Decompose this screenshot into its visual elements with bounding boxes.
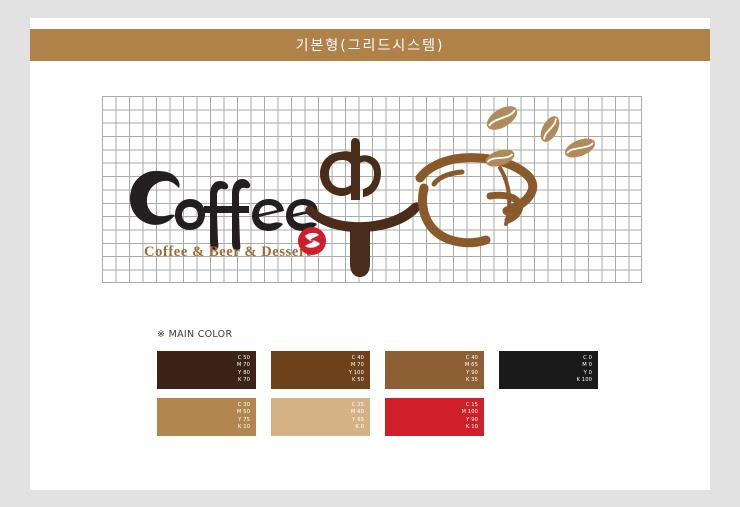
- cmyk-k: K 0: [351, 424, 364, 431]
- swatch-cmyk-values: C 50 M 70 Y 80 K 70: [237, 355, 250, 385]
- main-color-heading: ※ MAIN COLOR: [157, 329, 232, 340]
- cmyk-c: C 25: [351, 402, 364, 409]
- swatch-cmyk-values: C 15 M 100 Y 90 K 10: [461, 402, 478, 432]
- cmyk-m: M 0: [577, 362, 592, 369]
- cmyk-m: M 70: [237, 362, 250, 369]
- cmyk-m: M 100: [461, 409, 478, 416]
- cmyk-c: C 30: [237, 402, 250, 409]
- logo-artwork: Coffee & Beer & Dessert: [102, 96, 642, 283]
- swatch-black: C 0 M 0 Y 0 K 100: [499, 351, 598, 389]
- logo-grid-panel: Coffee & Beer & Dessert: [102, 96, 642, 283]
- swatch-tan: C 30 M 50 Y 75 K 10: [157, 398, 256, 436]
- page-sheet: 기본형(그리드시스템): [30, 18, 710, 490]
- cmyk-y: Y 65: [351, 417, 364, 424]
- main-color-swatch-grid: C 50 M 70 Y 80 K 70 C 40 M 70 Y 100 K 50…: [157, 351, 598, 436]
- cmyk-k: K 50: [349, 377, 364, 384]
- swatch-cmyk-values: C 0 M 0 Y 0 K 100: [577, 355, 592, 385]
- swatch-cmyk-values: C 40 M 70 Y 100 K 50: [349, 355, 364, 385]
- logo-emblem: [298, 227, 326, 255]
- cmyk-m: M 65: [465, 362, 478, 369]
- cmyk-c: C 40: [349, 355, 364, 362]
- cmyk-k: K 10: [237, 424, 250, 431]
- cmyk-y: Y 90: [461, 417, 478, 424]
- header-bar: 기본형(그리드시스템): [30, 29, 710, 61]
- logo-coffee-beans: [483, 101, 598, 169]
- cmyk-y: Y 90: [465, 370, 478, 377]
- logo-tagline: Coffee & Beer & Dessert: [144, 244, 311, 260]
- cmyk-m: M 40: [351, 409, 364, 416]
- cmyk-k: K 100: [577, 377, 592, 384]
- cmyk-m: M 50: [237, 409, 250, 416]
- cmyk-y: Y 80: [237, 370, 250, 377]
- swatch-dark-brown: C 50 M 70 Y 80 K 70: [157, 351, 256, 389]
- swatch-cmyk-values: C 40 M 65 Y 90 K 35: [465, 355, 478, 385]
- logo-coffee-cup: [420, 158, 533, 243]
- swatch-red: C 15 M 100 Y 90 K 10: [385, 398, 484, 436]
- cmyk-y: Y 75: [237, 417, 250, 424]
- cmyk-m: M 70: [349, 362, 364, 369]
- cmyk-c: C 40: [465, 355, 478, 362]
- swatch-beige: C 25 M 40 Y 65 K 0: [271, 398, 370, 436]
- swatch-medium-brown: C 40 M 70 Y 100 K 50: [271, 351, 370, 389]
- cmyk-c: C 0: [577, 355, 592, 362]
- cmyk-y: Y 100: [349, 370, 364, 377]
- cmyk-c: C 15: [461, 402, 478, 409]
- cmyk-k: K 10: [461, 424, 478, 431]
- cmyk-k: K 70: [237, 377, 250, 384]
- cmyk-y: Y 0: [577, 370, 592, 377]
- cmyk-k: K 35: [465, 377, 478, 384]
- logo-wordmark-coffee: [130, 171, 318, 251]
- swatch-cmyk-values: C 30 M 50 Y 75 K 10: [237, 402, 250, 432]
- cmyk-c: C 50: [237, 355, 250, 362]
- swatch-light-brown: C 40 M 65 Y 90 K 35: [385, 351, 484, 389]
- logo-hangul-mark: [305, 138, 420, 277]
- swatch-cmyk-values: C 25 M 40 Y 65 K 0: [351, 402, 364, 432]
- page-title: 기본형(그리드시스템): [296, 35, 445, 55]
